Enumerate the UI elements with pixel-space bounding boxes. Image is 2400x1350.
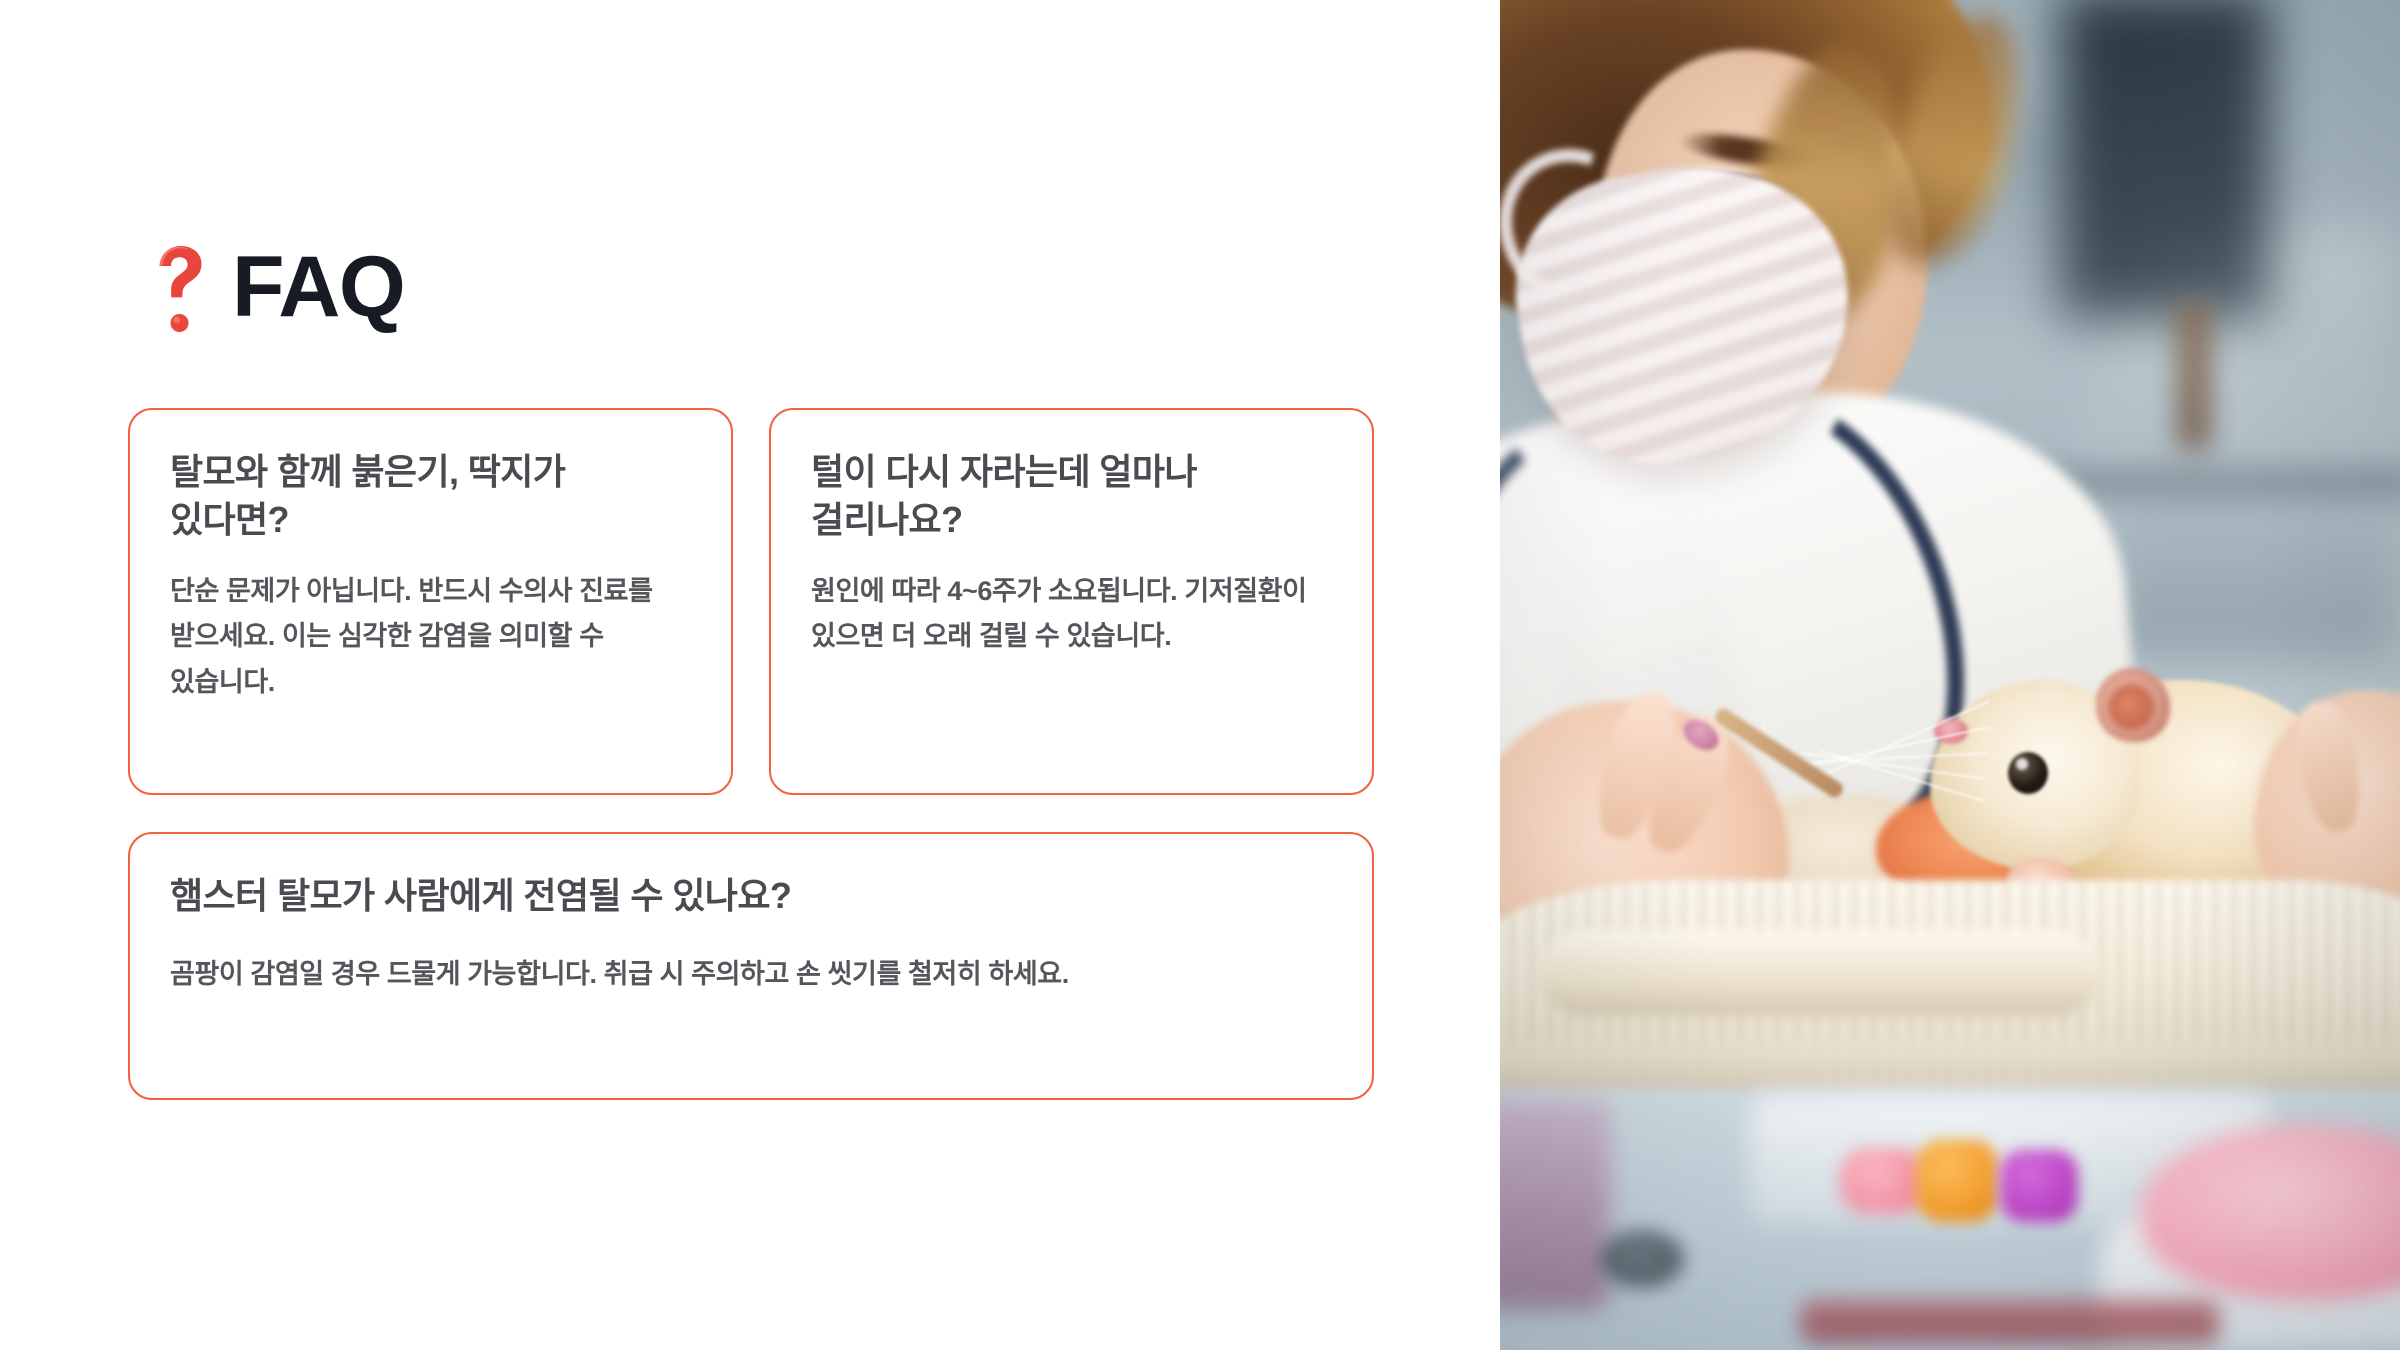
faq-card-row-bottom: 햄스터 탈모가 사람에게 전염될 수 있나요? 곰팡이 감염일 경우 드물게 가…: [128, 832, 1374, 1100]
faq-card[interactable]: 털이 다시 자라는데 얼마나 걸리나요? 원인에 따라 4~6주가 소요됩니다.…: [769, 408, 1374, 795]
faq-cards-area: 탈모와 함께 붉은기, 딱지가 있다면? 단순 문제가 아닙니다. 반드시 수의…: [128, 408, 1374, 1100]
faq-question: 햄스터 탈모가 사람에게 전염될 수 있나요?: [170, 872, 1332, 920]
faq-content-panel: FAQ 탈모와 함께 붉은기, 딱지가 있다면? 단순 문제가 아닙니다. 반드…: [0, 0, 1500, 1350]
faq-answer: 원인에 따라 4~6주가 소요됩니다. 기저질환이 있으면 더 오래 걸릴 수 …: [811, 569, 1332, 660]
faq-slide: FAQ 탈모와 함께 붉은기, 딱지가 있다면? 단순 문제가 아닙니다. 반드…: [0, 0, 2400, 1350]
photo-vignette: [1500, 0, 2400, 1350]
faq-card[interactable]: 탈모와 함께 붉은기, 딱지가 있다면? 단순 문제가 아닙니다. 반드시 수의…: [128, 408, 733, 795]
red-question-mark-icon: [150, 242, 206, 332]
faq-answer: 단순 문제가 아닙니다. 반드시 수의사 진료를 받으세요. 이는 심각한 감염…: [170, 569, 691, 705]
faq-question: 탈모와 함께 붉은기, 딱지가 있다면?: [170, 448, 691, 543]
faq-card[interactable]: 햄스터 탈모가 사람에게 전염될 수 있나요? 곰팡이 감염일 경우 드물게 가…: [128, 832, 1374, 1100]
faq-card-row-top: 탈모와 함께 붉은기, 딱지가 있다면? 단순 문제가 아닙니다. 반드시 수의…: [128, 408, 1374, 795]
veterinarian-hamster-photo: [1500, 0, 2400, 1350]
faq-question: 털이 다시 자라는데 얼마나 걸리나요?: [811, 448, 1332, 543]
faq-answer: 곰팡이 감염일 경우 드물게 가능합니다. 취급 시 주의하고 손 씻기를 철저…: [170, 952, 1332, 997]
faq-header: FAQ: [150, 232, 404, 342]
page-title: FAQ: [232, 244, 404, 330]
